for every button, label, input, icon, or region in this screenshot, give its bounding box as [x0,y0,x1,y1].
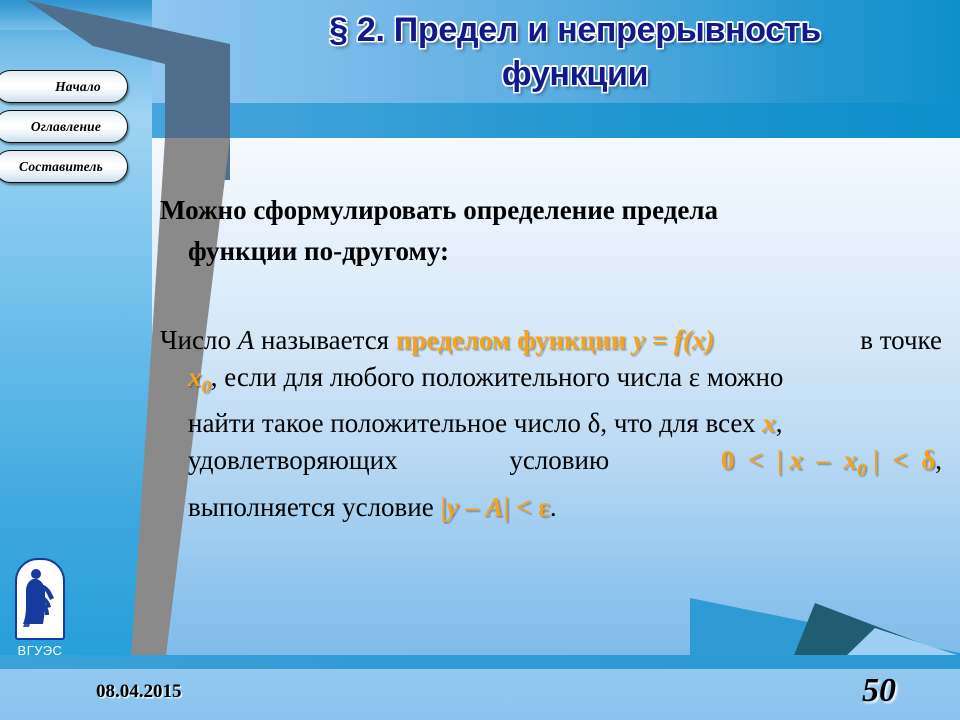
text-fragment: x [843,445,857,475]
formula2-epsilon: ε [538,492,550,522]
formula2-lt: < [516,492,531,522]
text-fragment: найти такое положительное число δ, что д… [188,408,762,438]
text-fragment: x [188,362,202,392]
vsues-emblem-icon [15,558,65,640]
nav-button-home[interactable]: Начало [0,70,128,103]
formula-bar-close: | [873,445,879,475]
highlight-y-equals-fx: y = f(x) [633,325,714,355]
footer-accent-band [0,655,960,669]
text-fragment: , если для любого положительного числа ε… [211,362,784,392]
definition-line-1-segment: Число A называется пределом функции y = … [160,322,714,359]
highlight-x0: x0 [188,362,211,392]
formula-bar-open: | [777,445,783,475]
text-fragment: выполняется условие [188,492,440,522]
definition-line-4: удовлетворяющих условию 0 < | x – x0 | <… [160,442,942,488]
formula-delta: δ [921,445,935,475]
formula2-minus: – [458,492,485,522]
slide-page-number: 50 [862,672,896,710]
definition-line-5: выполняется условие |y – A| < ε. [160,489,942,526]
slide-date: 08.04.2015 [96,681,182,703]
nav-button-contents-label: Оглавление [21,119,101,135]
formula-x: x [789,445,803,475]
nav-button-author[interactable]: Составитель [0,150,128,183]
paragraph-intro-line-1: Можно сформулировать определение предела [160,190,942,231]
subscript: 0 [202,376,211,396]
slide-title-line-2: функции [210,52,940,96]
word: предела [622,195,719,225]
formula2-y: y [446,492,458,522]
navigation-buttons: Начало Оглавление Составитель [0,70,134,190]
paragraph-definition: Число A называется пределом функции y = … [160,322,942,526]
subscript: 0 [857,460,866,480]
word: определение [463,195,615,225]
nav-button-contents[interactable]: Оглавление [0,110,128,143]
slide-canvas: Начало Оглавление Составитель § 2. Преде… [0,0,960,720]
formula-minus: – [816,445,830,475]
paragraph-intro-line-2: функции по-другому: [160,231,942,272]
text-fragment: в точке [860,322,942,359]
formula2-bar-close: | [503,492,509,522]
text-fragment: , [776,408,783,438]
nav-button-author-label: Составитель [19,159,103,175]
word: удовлетворяющих [188,442,398,488]
slide-body: Можно сформулировать определение предела… [160,190,942,526]
formula-x0: x0 [843,445,866,475]
definition-line-1: Число A называется пределом функции y = … [160,322,942,359]
university-logo-label: ВГУЭС [10,643,70,658]
formula-lt-1: < [748,445,763,475]
word: сформулировать [253,195,456,225]
highlight-x: x [762,408,776,438]
word: Можно [160,195,247,225]
formula2-period: . [550,492,557,522]
nav-button-home-label: Начало [21,79,101,95]
formula2-A: A [485,492,503,522]
formula-zero: 0 [721,445,735,475]
university-logo: ВГУЭС [10,558,70,658]
definition-line-3: найти такое положительное число δ, что д… [160,405,942,442]
vsues-figure-icon [17,560,63,638]
formula-comma: , [935,445,942,475]
word: условию [509,442,609,488]
definition-line-2: x0, если для любого положительного числа… [160,359,942,405]
paragraph-intro: Можно сформулировать определение предела… [160,190,942,272]
formula-lt-2: < [892,445,907,475]
text-fragment: называется [254,325,396,355]
variable-A: A [238,325,255,355]
slide-title-line-1: § 2. Предел и непрерывность [210,8,940,52]
highlight-predelom-funktsii: пределом функции [396,325,626,355]
text-fragment: Число [160,325,238,355]
formula-epsilon-delta: 0 < | x – x0 | < δ, [721,442,942,488]
slide-title: § 2. Предел и непрерывность функции [210,8,940,96]
